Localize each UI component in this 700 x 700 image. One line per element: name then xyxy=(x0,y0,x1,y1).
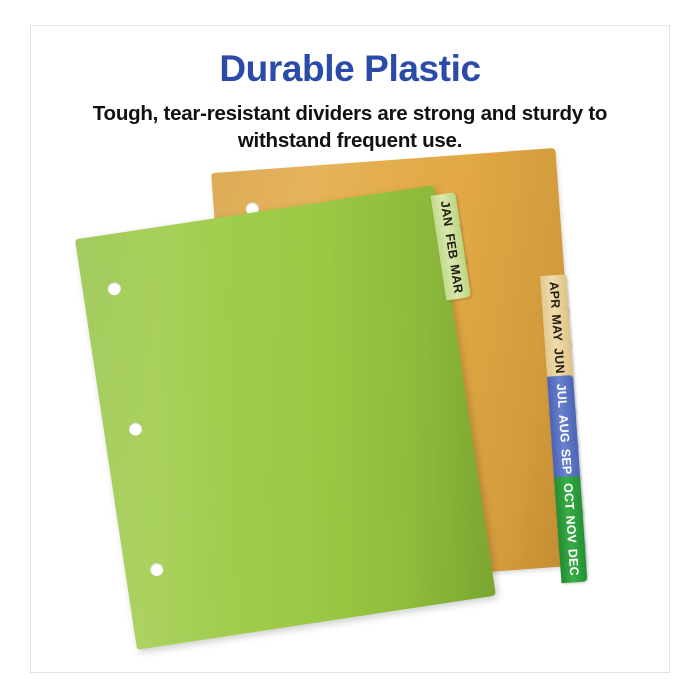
tab-label: NOV xyxy=(564,515,578,543)
tab-label: JAN xyxy=(438,200,454,227)
divider-tab-dec[interactable]: DEC xyxy=(559,542,588,584)
tab-label: DEC xyxy=(566,548,580,576)
tab-label: JUN xyxy=(552,348,566,374)
marketing-copy-block: Durable Plastic Tough, tear-resistant di… xyxy=(0,0,700,154)
tab-label: APR xyxy=(547,281,561,309)
tab-label: FEB xyxy=(443,233,459,260)
tab-label: MAR xyxy=(447,264,464,295)
tab-label: MAY xyxy=(549,314,563,342)
green-sheet-sheen xyxy=(75,185,496,650)
tab-label: OCT xyxy=(561,483,575,511)
tab-label: AUG xyxy=(556,414,570,443)
page-title: Durable Plastic xyxy=(0,0,700,89)
tab-label: SEP xyxy=(559,448,573,474)
tab-label: JUL xyxy=(554,383,568,408)
divider-tab-mar[interactable]: MAR xyxy=(440,257,471,300)
green-divider-sheet: JAN FEB MAR xyxy=(75,185,496,650)
product-photo-stage: APR MAY JUN JUL AUG SEP OCT NOV xyxy=(30,150,670,670)
product-image-canvas: Durable Plastic Tough, tear-resistant di… xyxy=(0,0,700,700)
subtitle-text: Tough, tear-resistant dividers are stron… xyxy=(60,89,640,155)
